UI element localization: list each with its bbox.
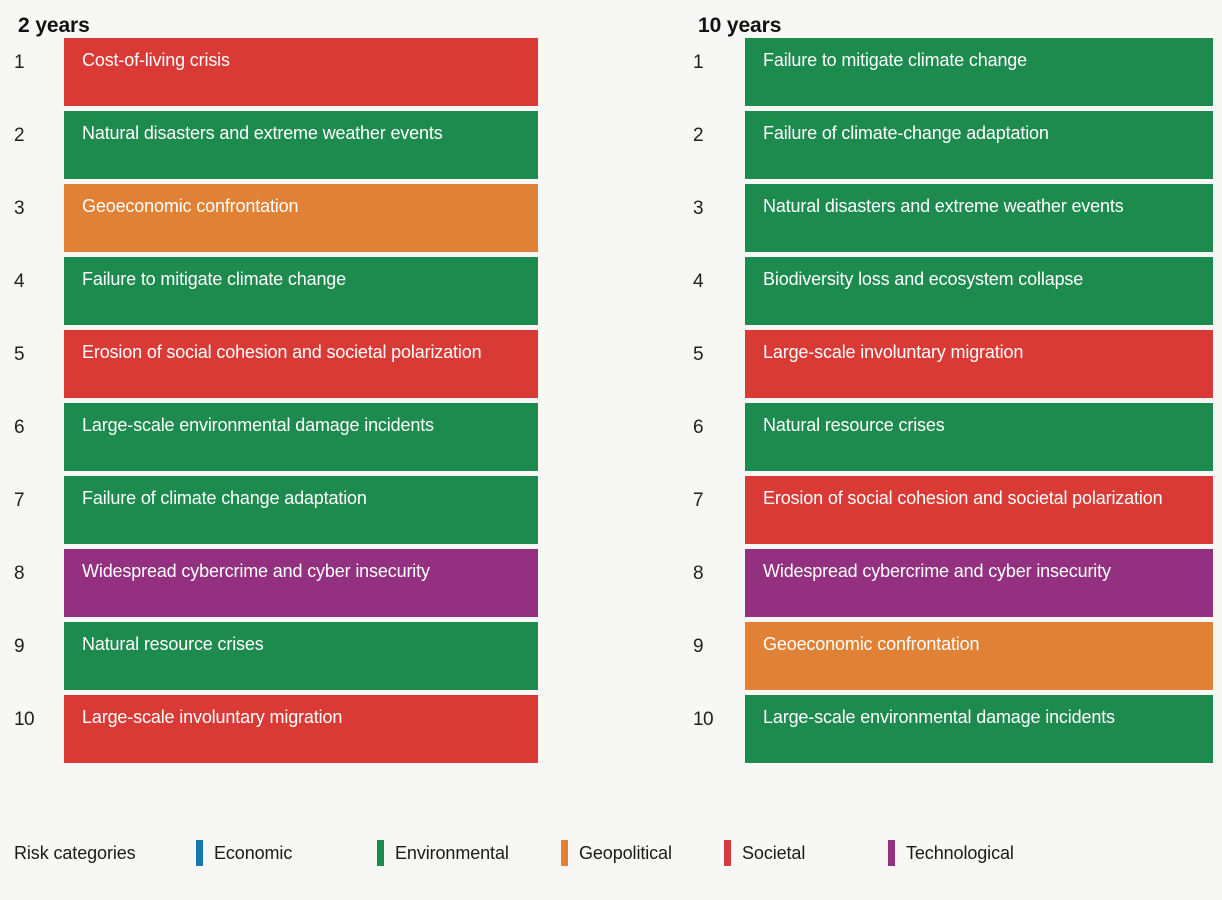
- rank-number: 9: [0, 622, 64, 658]
- rank-row: 9Geoeconomic confrontation: [680, 622, 1222, 690]
- column-10-years: 10 years 1Failure to mitigate climate ch…: [680, 0, 1222, 768]
- risk-bar: Large-scale environmental damage inciden…: [745, 695, 1213, 763]
- rank-number: 4: [0, 257, 64, 293]
- risk-bar: Natural resource crises: [745, 403, 1213, 471]
- rank-row: 7Failure of climate change adaptation: [0, 476, 560, 544]
- legend-item: Economic: [196, 840, 377, 866]
- legend-item: Geopolitical: [561, 840, 724, 866]
- legend-item: Technological: [888, 840, 1058, 866]
- rank-row: 4Biodiversity loss and ecosystem collaps…: [680, 257, 1222, 325]
- rank-number: 8: [680, 549, 745, 585]
- rank-number: 6: [0, 403, 64, 439]
- rank-number: 10: [0, 695, 64, 731]
- risk-bar: Widespread cybercrime and cyber insecuri…: [64, 549, 538, 617]
- column-2-years: 2 years 1Cost-of-living crisis2Natural d…: [0, 0, 560, 768]
- rank-number: 8: [0, 549, 64, 585]
- legend-swatch-icon: [377, 840, 384, 866]
- risks-ranking-chart: 2 years 1Cost-of-living crisis2Natural d…: [0, 0, 1222, 900]
- rank-number: 3: [0, 184, 64, 220]
- rank-row: 7Erosion of social cohesion and societal…: [680, 476, 1222, 544]
- rank-number: 1: [0, 38, 64, 74]
- rank-number: 7: [0, 476, 64, 512]
- risk-bar: Natural disasters and extreme weather ev…: [64, 111, 538, 179]
- risk-bar: Natural resource crises: [64, 622, 538, 690]
- rank-number: 2: [0, 111, 64, 147]
- legend-items: EconomicEnvironmentalGeopoliticalSocieta…: [196, 840, 1058, 866]
- column-title-2-years: 2 years: [0, 0, 560, 38]
- risk-bar: Large-scale environmental damage inciden…: [64, 403, 538, 471]
- rank-row: 6Large-scale environmental damage incide…: [0, 403, 560, 471]
- rank-row: 4Failure to mitigate climate change: [0, 257, 560, 325]
- risk-bar: Geoeconomic confrontation: [64, 184, 538, 252]
- rank-row: 1Failure to mitigate climate change: [680, 38, 1222, 106]
- rank-number: 3: [680, 184, 745, 220]
- legend-label: Societal: [742, 843, 805, 864]
- legend-label: Technological: [906, 843, 1014, 864]
- legend: Risk categories EconomicEnvironmentalGeo…: [0, 830, 1222, 876]
- legend-label: Geopolitical: [579, 843, 672, 864]
- legend-label: Environmental: [395, 843, 509, 864]
- rank-number: 5: [680, 330, 745, 366]
- rank-number: 9: [680, 622, 745, 658]
- legend-swatch-icon: [724, 840, 731, 866]
- risk-bar: Widespread cybercrime and cyber insecuri…: [745, 549, 1213, 617]
- rank-row: 5Large-scale involuntary migration: [680, 330, 1222, 398]
- rank-row: 1Cost-of-living crisis: [0, 38, 560, 106]
- risk-bar: Failure to mitigate climate change: [745, 38, 1213, 106]
- rank-row: 10Large-scale involuntary migration: [0, 695, 560, 763]
- rank-number: 6: [680, 403, 745, 439]
- column-title-10-years: 10 years: [680, 0, 1222, 38]
- rank-row: 10Large-scale environmental damage incid…: [680, 695, 1222, 763]
- risk-bar: Natural disasters and extreme weather ev…: [745, 184, 1213, 252]
- legend-label: Economic: [214, 843, 292, 864]
- risk-bar: Geoeconomic confrontation: [745, 622, 1213, 690]
- risk-bar: Large-scale involuntary migration: [64, 695, 538, 763]
- rank-list-10-years: 1Failure to mitigate climate change2Fail…: [680, 38, 1222, 763]
- rank-row: 8Widespread cybercrime and cyber insecur…: [0, 549, 560, 617]
- rank-row: 8Widespread cybercrime and cyber insecur…: [680, 549, 1222, 617]
- rank-row: 9Natural resource crises: [0, 622, 560, 690]
- risk-bar: Large-scale involuntary migration: [745, 330, 1213, 398]
- risk-bar: Failure of climate-change adaptation: [745, 111, 1213, 179]
- rank-number: 2: [680, 111, 745, 147]
- risk-bar: Erosion of social cohesion and societal …: [745, 476, 1213, 544]
- legend-title: Risk categories: [0, 843, 196, 864]
- risk-bar: Failure to mitigate climate change: [64, 257, 538, 325]
- legend-swatch-icon: [888, 840, 895, 866]
- rank-number: 4: [680, 257, 745, 293]
- rank-number: 5: [0, 330, 64, 366]
- legend-swatch-icon: [196, 840, 203, 866]
- risk-bar: Cost-of-living crisis: [64, 38, 538, 106]
- rank-row: 2Failure of climate-change adaptation: [680, 111, 1222, 179]
- risk-bar: Erosion of social cohesion and societal …: [64, 330, 538, 398]
- rank-list-2-years: 1Cost-of-living crisis2Natural disasters…: [0, 38, 560, 763]
- risk-bar: Biodiversity loss and ecosystem collapse: [745, 257, 1213, 325]
- risk-bar: Failure of climate change adaptation: [64, 476, 538, 544]
- legend-item: Societal: [724, 840, 888, 866]
- rank-row: 6Natural resource crises: [680, 403, 1222, 471]
- legend-item: Environmental: [377, 840, 561, 866]
- rank-number: 10: [680, 695, 745, 731]
- rank-row: 3Geoeconomic confrontation: [0, 184, 560, 252]
- rank-row: 2Natural disasters and extreme weather e…: [0, 111, 560, 179]
- rank-row: 3Natural disasters and extreme weather e…: [680, 184, 1222, 252]
- rank-number: 7: [680, 476, 745, 512]
- legend-swatch-icon: [561, 840, 568, 866]
- rank-row: 5Erosion of social cohesion and societal…: [0, 330, 560, 398]
- rank-number: 1: [680, 38, 745, 74]
